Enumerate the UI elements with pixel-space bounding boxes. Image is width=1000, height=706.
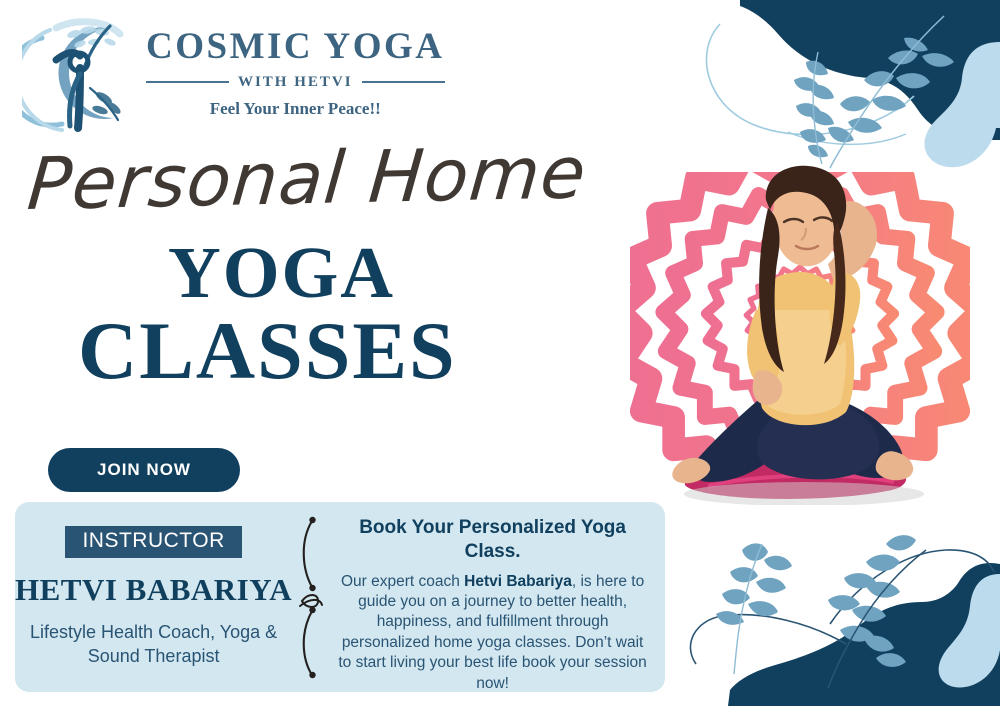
poster-canvas: COSMIC YOGA WITH HETVI Feel Your Inner P… xyxy=(0,0,1000,706)
booking-body: Our expert coach Hetvi Babariya, is here… xyxy=(334,572,651,695)
booking-column: Book Your Personalized Yoga Class. Our e… xyxy=(328,502,665,692)
brand-name: COSMIC YOGA xyxy=(146,28,445,65)
navy-hill-with-leaves-corner-icon xyxy=(680,516,1000,706)
headline-line-three: CLASSES xyxy=(78,312,457,390)
instructor-role: Lifestyle Health Coach, Yoga & Sound The… xyxy=(15,620,292,669)
woman-seated-yoga-stretch-photo xyxy=(648,160,958,505)
join-now-button[interactable]: JOIN NOW xyxy=(48,448,240,492)
brand-tagline: Feel Your Inner Peace!! xyxy=(210,99,381,119)
booking-body-after: , is here to guide you on a journey to b… xyxy=(338,573,646,692)
brand-logo: COSMIC YOGA WITH HETVI Feel Your Inner P… xyxy=(22,8,442,138)
info-panel: INSTRUCTOR HETVI BABARIYA Lifestyle Heal… xyxy=(15,502,665,692)
rule-left xyxy=(146,81,229,83)
booking-body-before: Our expert coach xyxy=(341,573,464,590)
instructor-name: HETVI BABARIYA xyxy=(15,572,292,608)
booking-coach-name: Hetvi Babariya xyxy=(464,573,572,590)
headline-script-line: Personal Home xyxy=(25,136,589,220)
brand-subtitle: WITH HETVI xyxy=(229,74,362,91)
hero-figure xyxy=(630,160,980,505)
navy-blob-with-leaves-corner-icon xyxy=(700,0,1000,175)
decorative-flourish-divider-icon xyxy=(292,502,328,692)
headline-line-two: YOGA xyxy=(168,238,395,307)
rule-right xyxy=(362,81,445,83)
brand-subtitle-row: WITH HETVI xyxy=(146,74,445,91)
booking-heading: Book Your Personalized Yoga Class. xyxy=(334,516,651,564)
instructor-badge: INSTRUCTOR xyxy=(65,526,241,558)
yoga-figure-circle-logo-icon xyxy=(22,12,140,134)
instructor-column: INSTRUCTOR HETVI BABARIYA Lifestyle Heal… xyxy=(15,502,292,692)
